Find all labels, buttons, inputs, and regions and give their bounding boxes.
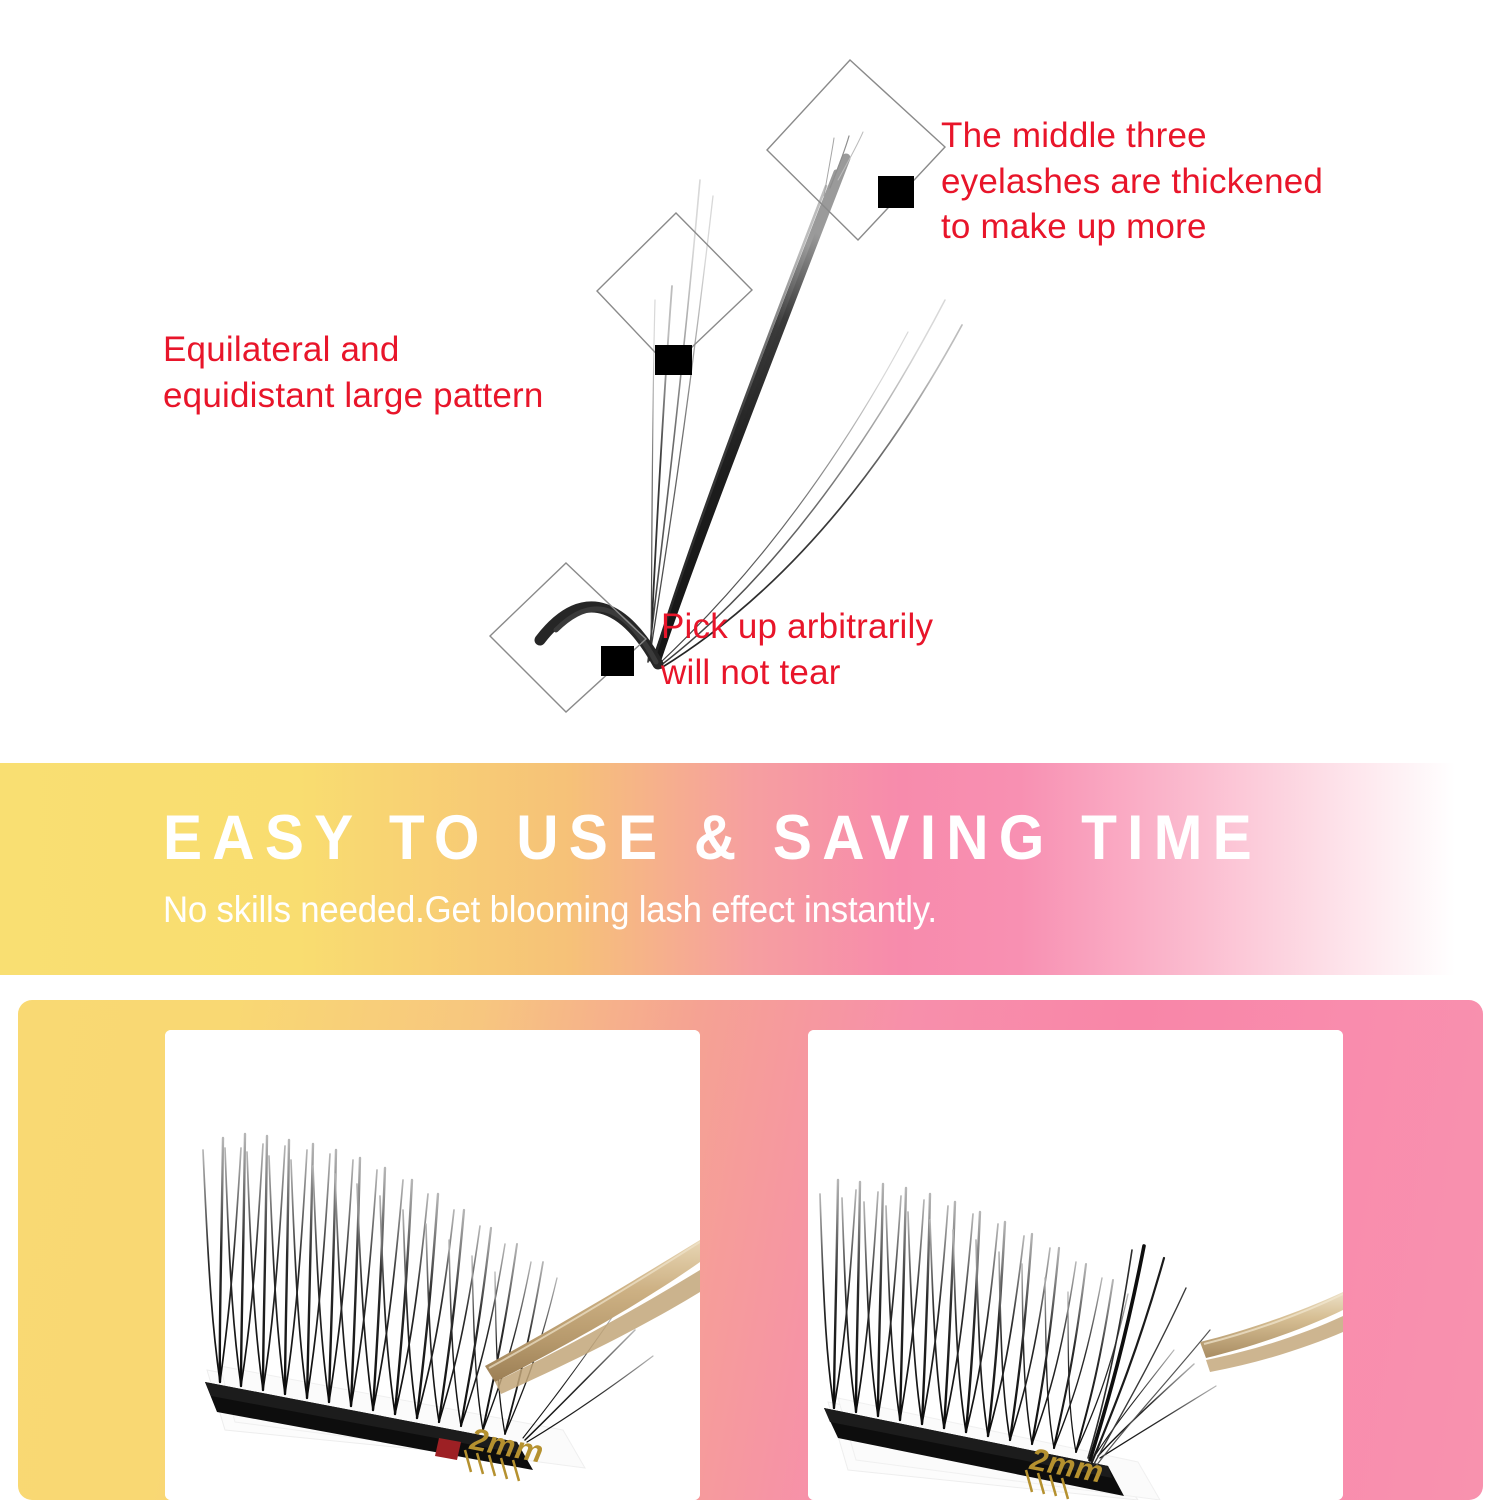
marker-square-bottom (601, 646, 634, 676)
diamond-callout-top-right (767, 60, 945, 240)
diamond-callout-middle-left (597, 213, 752, 375)
product-photos-card: 2mm (18, 1000, 1483, 1500)
banner-subtitle: No skills needed.Get blooming lash effec… (163, 891, 937, 928)
lash-base-strip (540, 607, 658, 664)
callout-equilateral-label: Equilateral and equidistant large patter… (163, 327, 544, 418)
photo-lash-strip-with-tweezers: 2mm (165, 1030, 700, 1500)
diamond-callout-bottom (490, 563, 646, 712)
callout-middle-three-label: The middle three eyelashes are thickened… (941, 113, 1323, 250)
feature-banner: EASY TO USE & SAVING TIME No skills need… (0, 763, 1500, 975)
marker-square-top-right (878, 176, 914, 208)
lash-thick-center-bundle (654, 132, 863, 662)
photo-lash-strip-fan-pickup: 2mm (808, 1030, 1343, 1500)
photo-left-graphic (165, 1030, 700, 1500)
callout-pick-up-label: Pick up arbitrarily will not tear (661, 604, 933, 695)
marker-square-middle-left (655, 345, 692, 375)
photo-right-graphic (808, 1030, 1343, 1500)
lash-diagram-section: The middle three eyelashes are thickened… (0, 0, 1500, 763)
banner-title: EASY TO USE & SAVING TIME (163, 807, 1262, 870)
